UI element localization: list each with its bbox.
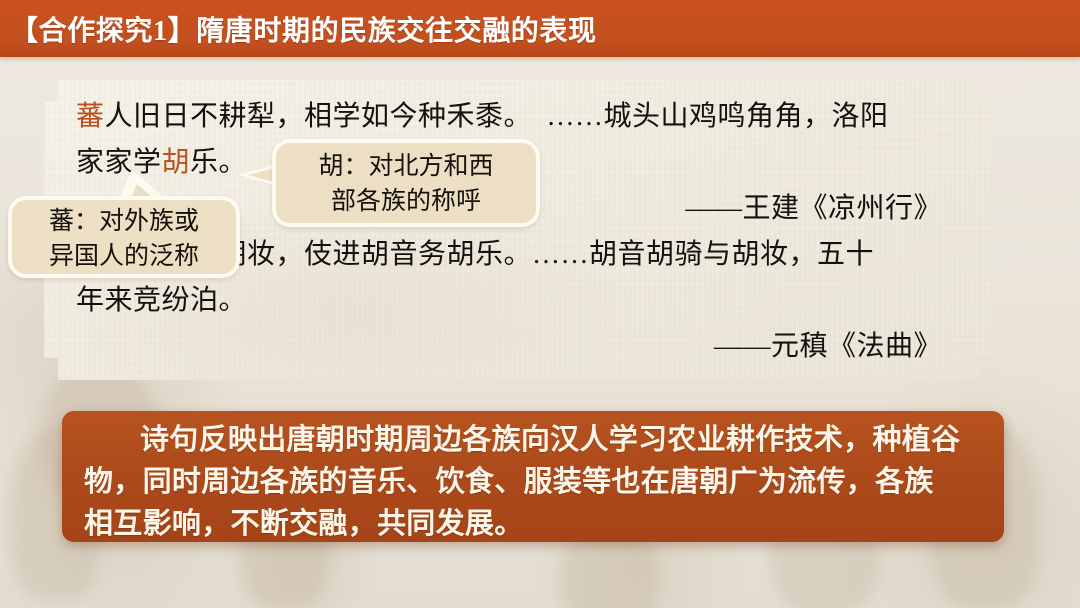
conclusion-line-2: 物，同时周边各族的音乐、饮食、服装等也在唐朝广为流传，各族 bbox=[84, 461, 982, 503]
conclusion-line-1: 诗句反映出唐朝时期周边各族向汉人学习农业耕作技术，种植谷 bbox=[84, 419, 982, 461]
highlight-char-fan: 蕃 bbox=[76, 101, 105, 132]
conclusion-box: 诗句反映出唐朝时期周边各族向汉人学习农业耕作技术，种植谷 物，同时周边各族的音乐… bbox=[62, 411, 1004, 542]
poem-line-1: 蕃人旧日不耕犁，相学如今种禾黍。 ……城头山鸡鸣角角，洛阳 bbox=[76, 94, 960, 140]
conclusion-line-3: 相互影响，不断交融，共同发展。 bbox=[84, 503, 982, 545]
callout-fan-line-1: 蕃：对外族或 bbox=[20, 204, 228, 239]
poem-line-4: 年来竞纷泊。 bbox=[76, 278, 960, 324]
callout-fan-line-2: 异国人的泛称 bbox=[20, 239, 228, 274]
callout-hu: 胡：对北方和西 部各族的称呼 bbox=[272, 139, 540, 227]
conclusion-text: 诗句反映出唐朝时期周边各族向汉人学习农业耕作技术，种植谷 物，同时周边各族的音乐… bbox=[84, 419, 982, 545]
poem-line-3-rest: 胡妆，伎进胡音务胡乐。……胡音胡骑与胡妆，五十 bbox=[219, 239, 875, 270]
slide-canvas: 【合作探究1】隋唐时期的民族交往交融的表现 蕃人旧日不耕犁，相学如今种禾黍。 …… bbox=[0, 0, 1080, 608]
callout-fan: 蕃：对外族或 异国人的泛称 bbox=[8, 196, 240, 278]
poem-line-1-rest: 人旧日不耕犁，相学如今种禾黍。 ……城头山鸡鸣角角，洛阳 bbox=[105, 101, 889, 132]
callout-hu-line-2: 部各族的称呼 bbox=[286, 184, 526, 219]
page-title: 【合作探究1】隋唐时期的民族交往交融的表现 bbox=[0, 9, 597, 49]
title-banner: 【合作探究1】隋唐时期的民族交往交融的表现 bbox=[0, 0, 1080, 57]
callout-hu-line-1: 胡：对北方和西 bbox=[286, 149, 526, 184]
attribution-yuanzhen: ——元稹《法曲》 bbox=[76, 324, 960, 370]
